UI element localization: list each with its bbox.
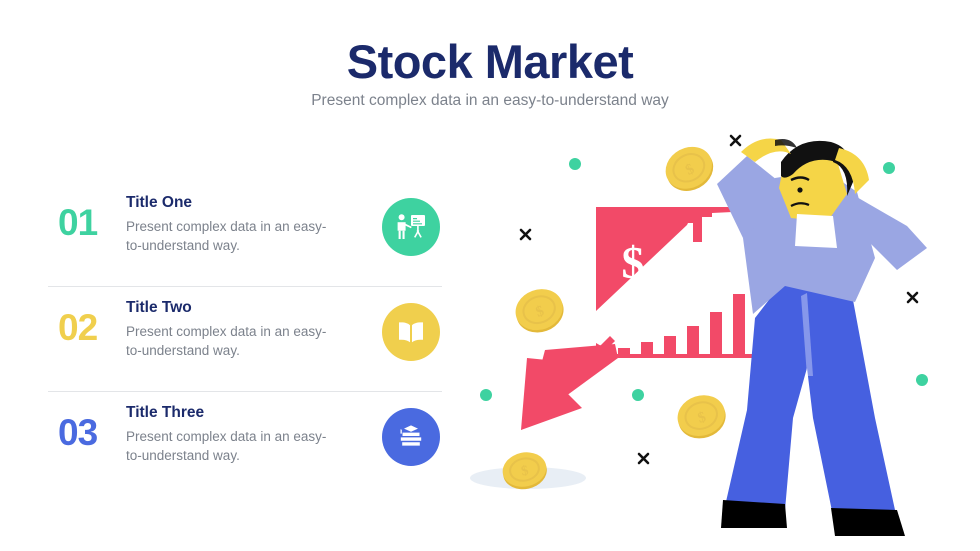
person-shoe-left [721,500,787,528]
arrow-head [521,358,597,430]
header: Stock Market Present complex data in an … [0,38,980,111]
dollar-sign-label: $ [622,237,645,288]
person-neck [795,214,837,248]
list-item-number: 01 [58,204,97,241]
list-item-title: Title Two [126,299,338,318]
list-item-title: Title One [126,194,338,213]
list-item-description: Present complex data in an easy-to-under… [126,322,338,361]
x-mark-left [521,230,530,239]
list-item-description: Present complex data in an easy-to-under… [126,427,338,466]
list-item-text: Title Two Present complex data in an eas… [126,299,338,361]
dot-right [916,374,928,386]
dot-top-right [883,162,895,174]
x-mark-bottom [639,454,648,463]
list-item-icon-badge[interactable] [382,198,440,256]
dot-top-left [569,158,581,170]
list-item[interactable]: 02 Title Two Present complex data in an … [48,286,442,391]
list-item-icon-badge[interactable] [382,303,440,361]
list-item[interactable]: 01 Title One Present complex data in an … [48,182,442,286]
presentation-board-icon [396,213,426,241]
list-item-icon-badge[interactable] [382,408,440,466]
person-eye [797,187,802,192]
stacked-books-icon [397,424,425,450]
feature-list: 01 Title One Present complex data in an … [48,182,442,496]
x-mark-right [908,293,917,302]
list-item-text: Title Three Present complex data in an e… [126,404,338,466]
coin-top: $ [658,139,720,199]
x-mark-top [731,136,740,145]
list-item-text: Title One Present complex data in an eas… [126,194,338,256]
page-subtitle: Present complex data in an easy-to-under… [0,92,980,111]
page-title: Stock Market [0,38,980,86]
list-item-description: Present complex data in an easy-to-under… [126,217,338,256]
coin-lower-right: $ [672,389,731,444]
list-item[interactable]: 03 Title Three Present complex data in a… [48,391,442,496]
open-book-icon [397,320,425,344]
list-item-title: Title Three [126,404,338,423]
illustration-stressed-investor: $ [455,118,980,551]
list-item-number: 02 [58,309,97,346]
slide-canvas: Stock Market Present complex data in an … [0,0,980,551]
dot-mid-center [632,389,644,401]
person-shoe-right [831,508,905,536]
illustration-svg: $ [455,118,980,551]
dot-mid-left [480,389,492,401]
coin-left: $ [510,283,570,339]
list-item-number: 03 [58,414,97,451]
